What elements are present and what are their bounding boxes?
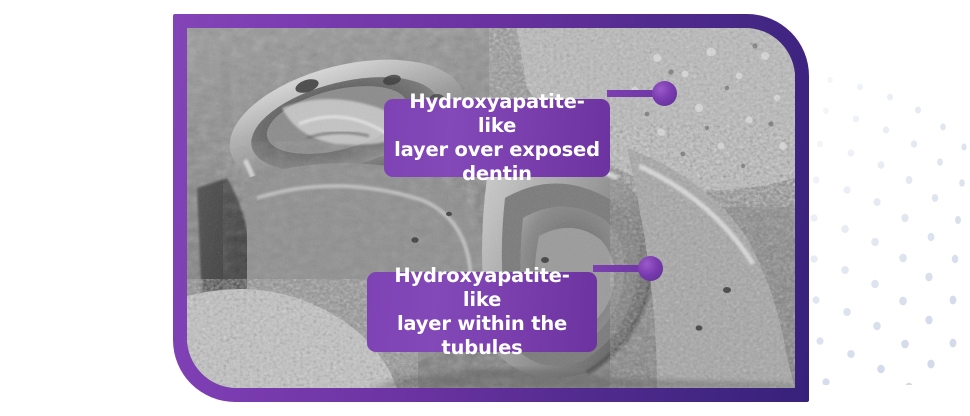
callout-within-tubules[interactable]: Hydroxyapatite-like layer within the tub… xyxy=(367,272,597,352)
figure-frame: Hydroxyapatite-like layer over exposed d… xyxy=(173,14,809,402)
callout-exposed-dentin-label: Hydroxyapatite-like layer over exposed d… xyxy=(394,90,600,186)
figure-image-container: Hydroxyapatite-like layer over exposed d… xyxy=(187,28,795,388)
figure-stage: Hydroxyapatite-like layer on dentin (SEM… xyxy=(0,0,970,416)
callout-exposed-dentin[interactable]: Hydroxyapatite-like layer over exposed d… xyxy=(384,99,610,177)
marker-dot-callout-2[interactable] xyxy=(638,256,663,281)
callout-within-tubules-label: Hydroxyapatite-like layer within the tub… xyxy=(377,264,587,360)
marker-dot-callout-1[interactable] xyxy=(652,81,677,106)
